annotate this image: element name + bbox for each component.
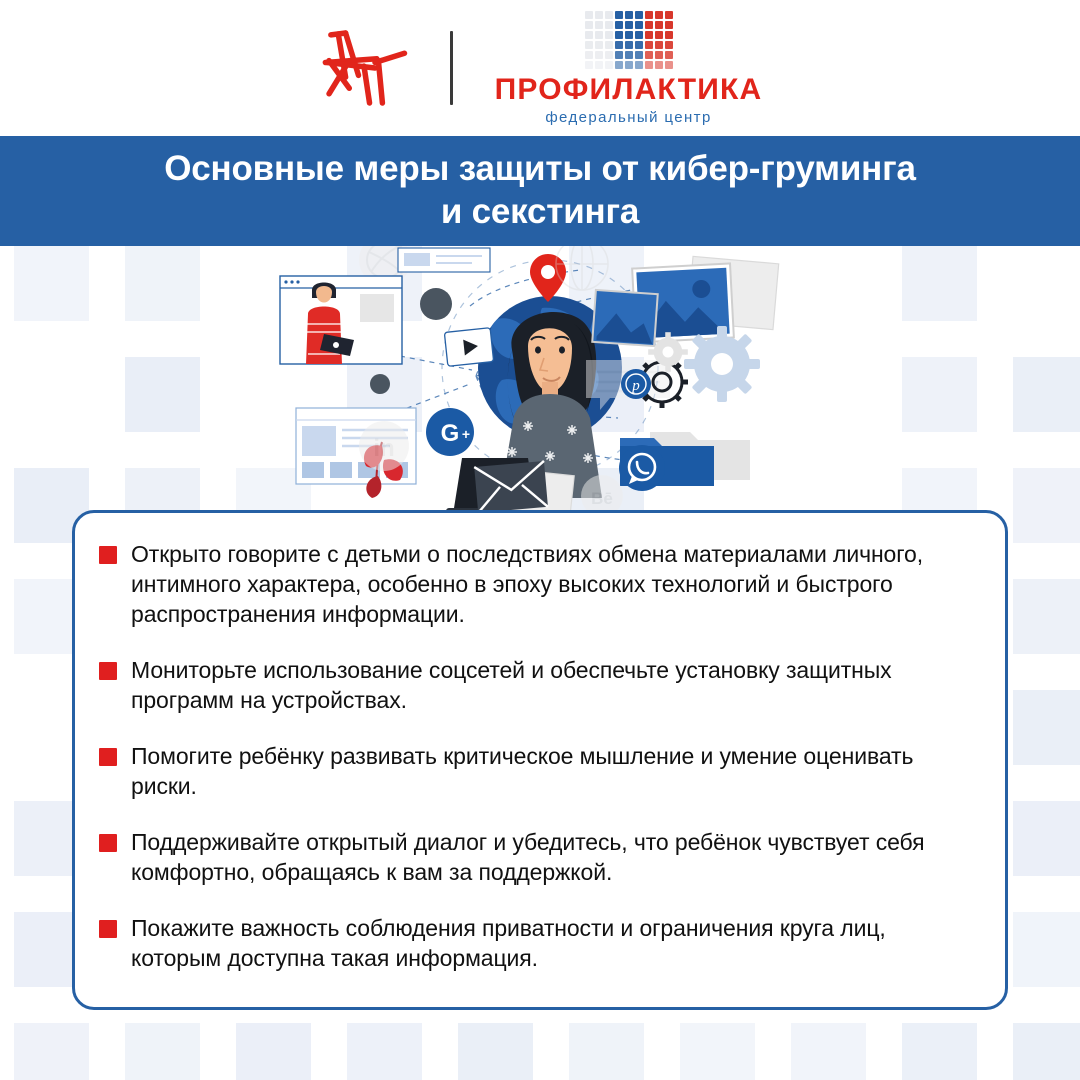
svg-text:+: + (462, 426, 470, 442)
list-item: Помогите ребёнку развивать критическое м… (99, 741, 975, 801)
list-item-text: Поддерживайте открытый диалог и убедитес… (131, 827, 975, 887)
linkedin-watermark-icon: in (359, 421, 409, 471)
browser-window-with-man-figure (280, 276, 402, 364)
list-item-text: Помогите ребёнку развивать критическое м… (131, 741, 975, 801)
pinterest-badge-icon: p (621, 369, 651, 399)
svg-text:p: p (631, 378, 640, 394)
logo-bar: ПРОФИЛАКТИКА федеральный центр (0, 0, 1080, 136)
hero-illustration: G + p in Bē (250, 246, 830, 526)
decorative-dot (420, 288, 452, 320)
list-item-text: Открыто говорите с детьми о последствиях… (131, 539, 975, 629)
recommendations-card: Открыто говорите с детьми о последствиях… (72, 510, 1008, 1010)
brand-lockup: ПРОФИЛАКТИКА федеральный центр (495, 11, 763, 125)
list-item-text: Мониторьте использование соцсетей и обес… (131, 655, 975, 715)
video-play-icon (444, 328, 493, 367)
whatsapp-badge-icon (619, 445, 665, 491)
bullet-square-icon (99, 834, 117, 852)
title-banner: Основные меры защиты от кибер-груминга и… (0, 136, 1080, 246)
illustration-canvas: G + p in Bē (250, 246, 830, 526)
svg-text:Bē: Bē (591, 489, 613, 508)
vertical-divider-icon (450, 31, 453, 105)
svg-text:G: G (441, 420, 460, 447)
page-title: Основные меры защиты от кибер-груминга и… (164, 148, 916, 233)
decorative-dot (370, 374, 390, 394)
photo-frame-icon (592, 256, 778, 346)
list-item: Мониторьте использование соцсетей и обес… (99, 655, 975, 715)
bullet-square-icon (99, 662, 117, 680)
list-item: Покажите важность соблюдения приватности… (99, 913, 975, 973)
pixel-grid-icon (585, 11, 673, 69)
svg-text:in: in (373, 435, 394, 462)
chair-line-art-icon (318, 25, 410, 111)
bullet-square-icon (99, 546, 117, 564)
brand-subtitle: федеральный центр (545, 110, 711, 125)
list-item: Поддерживайте открытый диалог и убедитес… (99, 827, 975, 887)
brand-name: ПРОФИЛАКТИКА (495, 75, 763, 105)
bullet-square-icon (99, 920, 117, 938)
list-item-text: Покажите важность соблюдения приватности… (131, 913, 975, 973)
google-plus-badge-icon: G + (426, 408, 474, 456)
bullet-square-icon (99, 748, 117, 766)
list-item: Открыто говорите с детьми о последствиях… (99, 539, 975, 629)
webpage-card-icon (398, 248, 490, 272)
